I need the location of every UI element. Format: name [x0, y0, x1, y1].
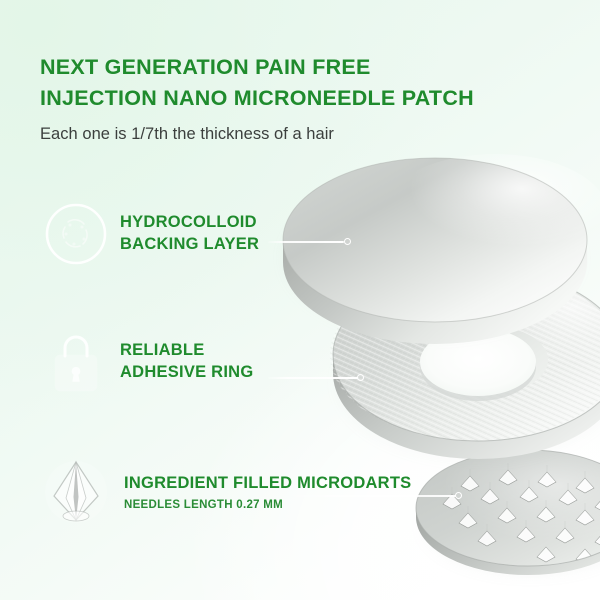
- callout-line: [268, 377, 358, 379]
- microdart-icon: [34, 452, 118, 532]
- hydrocolloid-backing-layer: [282, 154, 600, 344]
- callout-endpoint-dot: [357, 374, 364, 381]
- callout-endpoint-dot: [344, 238, 351, 245]
- feature-subtitle: NEEDLES LENGTH 0.27 MM: [124, 499, 411, 511]
- feature-title-line-2: ADHESIVE RING: [120, 362, 253, 384]
- feature-text: INGREDIENT FILLED MICRODARTS NEEDLES LEN…: [124, 473, 411, 511]
- headline-block: NEXT GENERATION PAIN FREE INJECTION NANO…: [40, 52, 560, 145]
- headline-line-2: INJECTION NANO MICRONEEDLE PATCH: [40, 83, 560, 114]
- feature-text: RELIABLE ADHESIVE RING: [120, 340, 253, 384]
- adhesive-ring-layer: [320, 260, 600, 462]
- feature-title-line-1: INGREDIENT FILLED MICRODARTS: [124, 473, 411, 495]
- hydrocolloid-circle-icon: [38, 194, 114, 274]
- padlock-icon: [38, 322, 114, 402]
- infographic-canvas: NEXT GENERATION PAIN FREE INJECTION NANO…: [0, 0, 600, 600]
- feature-title-line-1: RELIABLE: [120, 340, 253, 362]
- feature-title-line-1: HYDROCOLLOID: [120, 212, 259, 234]
- feature-hydrocolloid-backing-layer: HYDROCOLLOID BACKING LAYER: [38, 194, 259, 274]
- feature-text: HYDROCOLLOID BACKING LAYER: [120, 212, 259, 256]
- headline-line-1: NEXT GENERATION PAIN FREE: [40, 55, 371, 79]
- microdart-layer: [416, 450, 600, 576]
- page-title: NEXT GENERATION PAIN FREE INJECTION NANO…: [40, 52, 560, 113]
- feature-ingredient-filled-microdarts: INGREDIENT FILLED MICRODARTS NEEDLES LEN…: [34, 452, 411, 532]
- feature-reliable-adhesive-ring: RELIABLE ADHESIVE RING: [38, 322, 253, 402]
- callout-endpoint-dot: [455, 492, 462, 499]
- callout-line: [268, 241, 344, 243]
- headline-subtitle: Each one is 1/7th the thickness of a hai…: [40, 124, 560, 145]
- feature-title-line-2: BACKING LAYER: [120, 234, 259, 256]
